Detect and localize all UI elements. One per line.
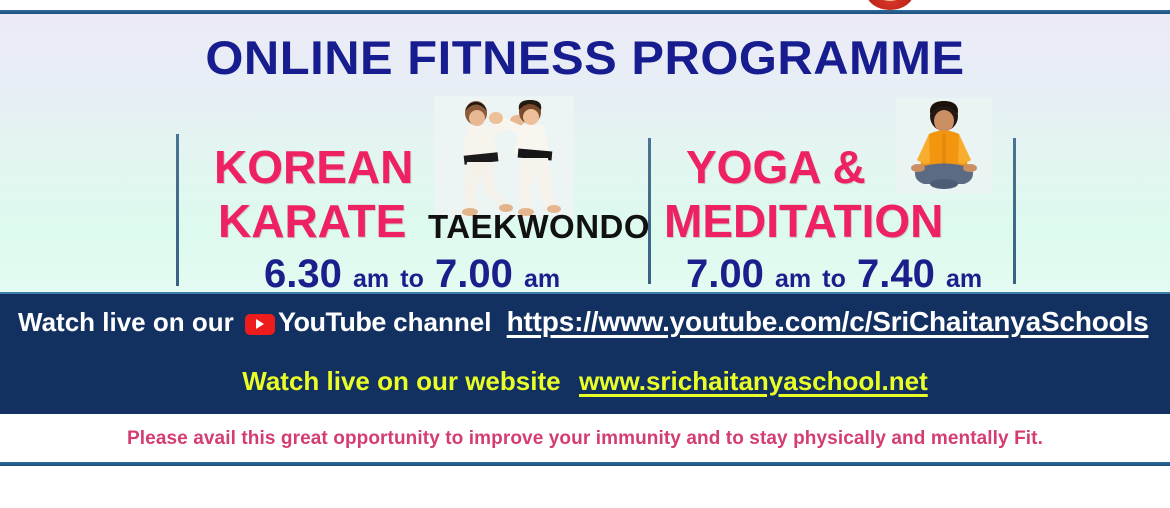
- youtube-channel-line: Watch live on our YouTube channel https:…: [18, 306, 1149, 338]
- programme-name-line1: YOGA &: [686, 144, 866, 190]
- youtube-brand-label: YouTube: [278, 307, 386, 337]
- divider-bar-left: [176, 134, 179, 286]
- programme-name-line2: MEDITATION: [664, 198, 943, 244]
- time-start-meridiem: am: [775, 265, 811, 293]
- time-start: 6.30: [264, 252, 342, 296]
- divider-bar-right: [1013, 138, 1016, 284]
- time-end: 7.00: [435, 252, 513, 296]
- time-start: 7.00: [686, 252, 764, 296]
- programme-name-line2: KARATE: [218, 198, 406, 244]
- time-separator: to: [822, 265, 846, 293]
- youtube-suffix-label: channel: [393, 307, 491, 337]
- meditation-photo: [896, 98, 992, 194]
- youtube-prefix-label: Watch live on our: [18, 307, 234, 337]
- programme-name-line1: KOREAN: [214, 144, 413, 190]
- youtube-play-icon: [245, 314, 275, 335]
- time-end-meridiem: am: [946, 265, 982, 293]
- programme-subtitle: TAEKWONDO: [428, 210, 650, 243]
- school-crest-logo-inner: [877, 0, 903, 1]
- time-separator: to: [400, 265, 424, 293]
- fitness-programme-poster: ONLINE FITNESS PROGRAMME: [0, 0, 1170, 508]
- programme-time-yoga: 7.00 am to 7.40 am: [686, 254, 982, 294]
- programme-time-karate: 6.30 am to 7.00 am: [264, 254, 560, 294]
- top-white-strip: [0, 0, 1170, 10]
- time-end: 7.40: [857, 252, 935, 296]
- note-text: Please avail this great opportunity to i…: [0, 428, 1170, 450]
- website-label: Watch live on our website: [242, 366, 560, 396]
- website-url[interactable]: www.srichaitanyaschool.net: [579, 366, 928, 396]
- bottom-clip: [0, 502, 1170, 508]
- time-end-meridiem: am: [524, 265, 560, 293]
- taekwondo-photo: [434, 96, 574, 218]
- page-title: ONLINE FITNESS PROGRAMME: [0, 30, 1170, 85]
- youtube-channel-url[interactable]: https://www.youtube.com/c/SriChaitanyaSc…: [507, 306, 1149, 337]
- programme-body: ONLINE FITNESS PROGRAMME: [0, 14, 1170, 294]
- school-crest-logo-icon: [866, 0, 914, 10]
- website-line: Watch live on our website www.srichaitan…: [0, 366, 1170, 397]
- time-start-meridiem: am: [353, 265, 389, 293]
